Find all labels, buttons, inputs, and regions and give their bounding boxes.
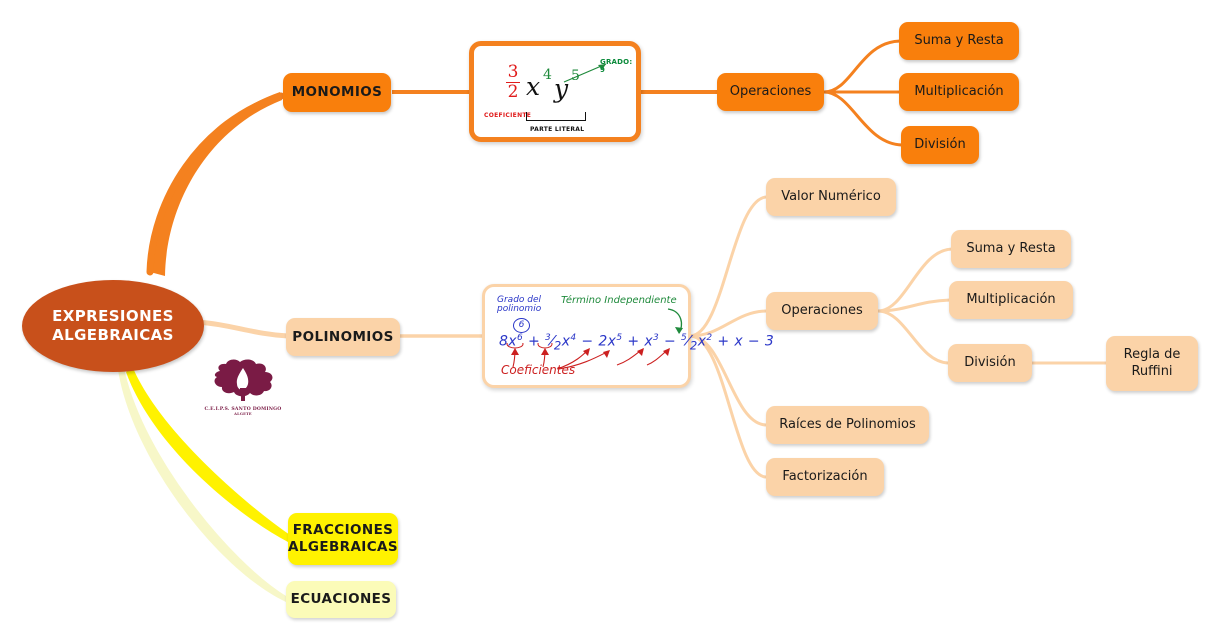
node-polinomios-raices[interactable]: Raíces de Polinomios xyxy=(766,406,929,444)
node-polinomios-valor-numerico-label: Valor Numérico xyxy=(781,189,881,205)
grado-polinomio-value: 6 xyxy=(513,318,530,333)
node-polinomios-factorizacion[interactable]: Factorización xyxy=(766,458,884,496)
central-node-line2: ALGEBRAICAS xyxy=(52,326,174,345)
node-polinomios-raices-label: Raíces de Polinomios xyxy=(779,417,916,433)
monomio-formula-content: 3 2 x 4 y 5 GRADO: 9 COEFICIENTE PARTE L… xyxy=(478,50,632,133)
parte-literal-label: PARTE LITERAL xyxy=(530,126,584,133)
node-polinomios-division-label: División xyxy=(964,355,1016,371)
link-op-division xyxy=(824,92,902,145)
node-polinomios-multiplicacion[interactable]: Multiplicación xyxy=(949,281,1073,319)
node-polinomios-multiplicacion-label: Multiplicación xyxy=(966,292,1055,308)
node-polinomios-suma-y-resta-label: Suma y Resta xyxy=(966,241,1055,257)
node-monomios-label: MONOMIOS xyxy=(292,84,383,101)
monomio-formula-inner: 3 2 x 4 y 5 GRADO: 9 COEFICIENTE PARTE L… xyxy=(478,50,632,133)
link-op-suma xyxy=(824,41,900,92)
node-fracciones-line2: ALGEBRAICAS xyxy=(288,539,398,556)
node-regla-de-ruffini[interactable]: Regla de Ruffini xyxy=(1106,336,1198,391)
node-polinomios-suma-y-resta[interactable]: Suma y Resta xyxy=(951,230,1071,268)
node-polinomios-valor-numerico[interactable]: Valor Numérico xyxy=(766,178,896,216)
node-polinomios-operaciones-label: Operaciones xyxy=(781,303,863,319)
node-monomios-division[interactable]: División xyxy=(901,126,979,164)
mindmap-canvas: EXPRESIONES ALGEBRAICAS MONOMIOS POLINOM… xyxy=(0,0,1214,640)
tree-with-pen-logo-icon xyxy=(198,357,288,403)
central-node[interactable]: EXPRESIONES ALGEBRAICAS xyxy=(22,280,204,372)
coeficiente-label: COEFICIENTE xyxy=(484,112,531,119)
central-node-line1: EXPRESIONES xyxy=(52,307,174,326)
link-central-monomios xyxy=(150,92,282,276)
link-polyop-division xyxy=(878,311,948,363)
node-monomios-division-label: División xyxy=(914,137,966,153)
exponent-x: 4 xyxy=(543,67,552,83)
node-monomios-multiplicacion[interactable]: Multiplicación xyxy=(899,73,1019,111)
link-polyop-multi xyxy=(878,300,950,311)
node-polinomios-operaciones[interactable]: Operaciones xyxy=(766,292,878,330)
node-polinomios-label: POLINOMIOS xyxy=(292,329,393,346)
node-polinomios-division[interactable]: División xyxy=(948,344,1032,382)
school-logo: C.E.I.P.S. SANTO DOMINGO ALGETE xyxy=(198,357,288,415)
coefficient-denominator: 2 xyxy=(506,84,520,101)
coefficient-numerator: 3 xyxy=(506,64,520,81)
node-fracciones-line1: FRACCIONES xyxy=(293,522,394,539)
grado-polinomio-line2: polinomio xyxy=(497,304,541,314)
coeficientes-label: Coeficientes xyxy=(501,363,575,377)
parte-literal-brace xyxy=(526,112,586,121)
monomio-formula-image: 3 2 x 4 y 5 GRADO: 9 COEFICIENTE PARTE L… xyxy=(469,41,641,142)
polinomio-formula-inner: Grado del polinomio 6 Término Independie… xyxy=(489,291,684,381)
termino-independiente-label: Término Independiente xyxy=(561,295,677,306)
node-regla-de-ruffini-line2: Ruffini xyxy=(1131,364,1172,380)
node-polinomios[interactable]: POLINOMIOS xyxy=(286,318,400,356)
link-polyop-suma xyxy=(878,249,952,311)
node-regla-de-ruffini-line1: Regla de xyxy=(1124,347,1181,363)
node-monomios-multiplicacion-label: Multiplicación xyxy=(914,84,1003,100)
link-poly-valor xyxy=(690,197,766,336)
node-monomios-operaciones[interactable]: Operaciones xyxy=(717,73,824,111)
node-monomios-suma-y-resta[interactable]: Suma y Resta xyxy=(899,22,1019,60)
node-fracciones-algebraicas[interactable]: FRACCIONES ALGEBRAICAS xyxy=(288,513,398,565)
node-polinomios-factorizacion-label: Factorización xyxy=(782,469,867,485)
school-logo-line2: ALGETE xyxy=(198,412,288,416)
grado-polinomio-label: Grado del polinomio xyxy=(497,296,541,315)
node-ecuaciones[interactable]: ECUACIONES xyxy=(286,581,396,618)
node-ecuaciones-label: ECUACIONES xyxy=(291,591,392,608)
link-poly-factorizacion xyxy=(690,336,766,477)
link-central-monomios-stroke xyxy=(150,96,281,272)
link-central-polinomios xyxy=(196,322,288,336)
grado-label: GRADO: 9 xyxy=(600,58,632,74)
node-monomios-suma-y-resta-label: Suma y Resta xyxy=(914,33,1003,49)
node-monomios-operaciones-label: Operaciones xyxy=(730,84,812,100)
polinomio-formula-image: Grado del polinomio 6 Término Independie… xyxy=(482,284,691,388)
variable-x: x xyxy=(526,72,540,101)
coefficient-fraction: 3 2 xyxy=(506,64,520,101)
node-monomios[interactable]: MONOMIOS xyxy=(283,73,391,112)
